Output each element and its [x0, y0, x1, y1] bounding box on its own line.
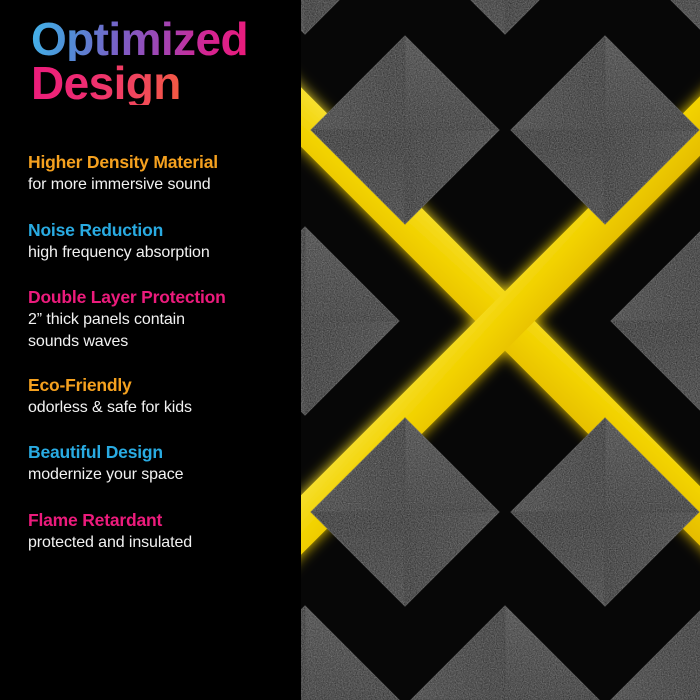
title-line-optimized: Optimized: [31, 17, 248, 61]
feature-description: protected and insulated: [28, 533, 290, 554]
text-panel: Optimized Design Higher Density Material…: [0, 0, 300, 700]
panel-divider: [298, 0, 301, 700]
feature-heading: Flame Retardant: [28, 510, 290, 532]
feature-description-line2: sounds waves: [28, 332, 290, 353]
feature-list: Higher Density Material for more immersi…: [28, 152, 290, 554]
feature-heading: Noise Reduction: [28, 220, 290, 242]
acoustic-panel-photo: [300, 0, 700, 700]
feature-description: modernize your space: [28, 465, 290, 486]
feature-heading: Higher Density Material: [28, 152, 290, 174]
foam-panel-illustration: [300, 0, 700, 700]
feature-item: Noise Reduction high frequency absorptio…: [28, 220, 290, 264]
feature-item: Higher Density Material for more immersi…: [28, 152, 290, 196]
feature-item: Flame Retardant protected and insulated: [28, 510, 290, 554]
feature-description: 2” thick panels contain: [28, 310, 290, 331]
feature-description: for more immersive sound: [28, 175, 290, 196]
feature-heading: Beautiful Design: [28, 442, 290, 464]
feature-description: odorless & safe for kids: [28, 398, 290, 419]
product-infographic: Optimized Design Higher Density Material…: [0, 0, 700, 700]
feature-item: Double Layer Protection 2” thick panels …: [28, 287, 290, 352]
title-line-design: Design: [31, 61, 248, 105]
page-title: Optimized Design: [31, 17, 248, 105]
feature-item: Beautiful Design modernize your space: [28, 442, 290, 486]
feature-heading: Eco-Friendly: [28, 375, 290, 397]
feature-heading: Double Layer Protection: [28, 287, 290, 309]
feature-description: high frequency absorption: [28, 243, 290, 264]
feature-item: Eco-Friendly odorless & safe for kids: [28, 375, 290, 419]
